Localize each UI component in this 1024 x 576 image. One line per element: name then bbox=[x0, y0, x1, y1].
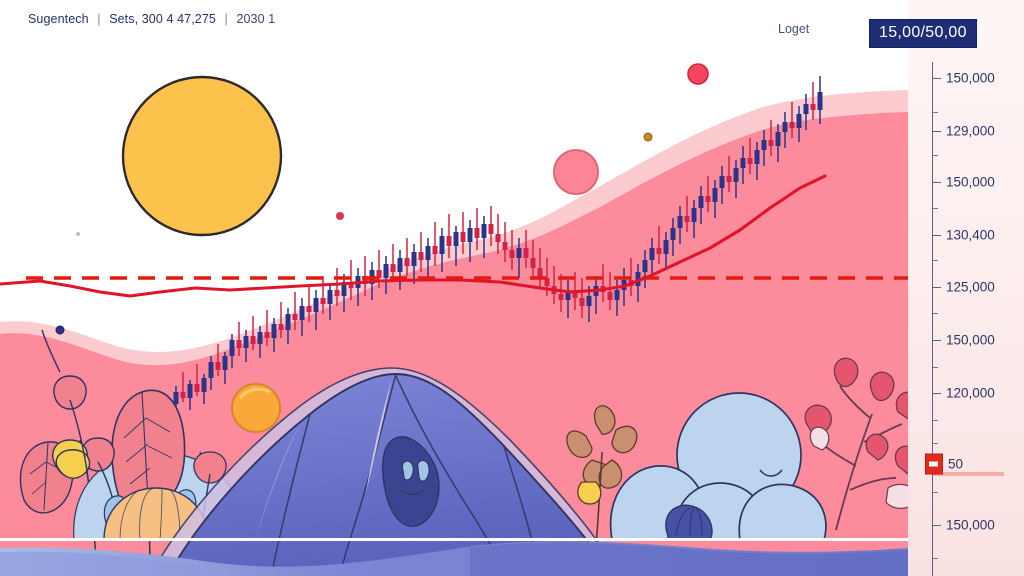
candle-body bbox=[755, 150, 760, 164]
candle-body bbox=[559, 294, 564, 300]
candle-body bbox=[440, 236, 445, 254]
candle-body bbox=[174, 392, 179, 404]
candle-body bbox=[405, 258, 410, 266]
candle-body bbox=[510, 250, 515, 258]
axis-tick bbox=[932, 340, 941, 341]
candle-body bbox=[384, 264, 389, 278]
candle-body bbox=[699, 196, 704, 208]
axis-tick bbox=[932, 155, 938, 156]
candle-body bbox=[643, 260, 648, 272]
axis-tick bbox=[932, 235, 941, 236]
axis-tick bbox=[932, 313, 938, 314]
axis-tick-label: 120,000 bbox=[946, 386, 995, 401]
candle-body bbox=[482, 224, 487, 238]
axis-tick bbox=[932, 525, 941, 526]
axis-spine bbox=[932, 62, 933, 576]
candle-body bbox=[650, 248, 655, 260]
candle-body bbox=[328, 290, 333, 304]
candle-body bbox=[251, 336, 256, 344]
candle-body bbox=[692, 208, 697, 222]
candle-body bbox=[657, 248, 662, 254]
candle-body bbox=[244, 336, 249, 348]
candle-body bbox=[300, 306, 305, 320]
candle-body bbox=[811, 104, 816, 110]
candle-body bbox=[727, 176, 732, 182]
candle-body bbox=[216, 362, 221, 370]
candle-body bbox=[741, 158, 746, 168]
axis-tick bbox=[932, 112, 938, 113]
candle-body bbox=[517, 248, 522, 258]
chart-title[interactable]: Sugentech | Sets, 300 4 47,275 | 2030 1 bbox=[28, 12, 275, 26]
candle-body bbox=[587, 296, 592, 306]
axis-tick-label: 150,000 bbox=[946, 518, 995, 533]
candle-body bbox=[524, 248, 529, 258]
candle-body bbox=[783, 122, 788, 132]
axis-tick bbox=[932, 558, 938, 559]
legend-label[interactable]: Loget bbox=[772, 21, 815, 37]
candle-body bbox=[762, 140, 767, 150]
candle-body bbox=[615, 290, 620, 300]
axis-tick bbox=[932, 393, 941, 394]
candle-body bbox=[720, 176, 725, 188]
candle-body bbox=[454, 232, 459, 246]
chart-bottom-divider bbox=[0, 538, 908, 540]
candle-body bbox=[461, 232, 466, 242]
title-separator-2: | bbox=[220, 12, 233, 26]
candle-body bbox=[286, 314, 291, 330]
axis-tick bbox=[932, 131, 941, 132]
pink-circle-small bbox=[688, 64, 708, 84]
ratio-badge[interactable]: 15,00/50,00 bbox=[869, 19, 977, 48]
candle-body bbox=[321, 298, 326, 304]
candle-body bbox=[223, 356, 228, 370]
candle-body bbox=[279, 324, 284, 330]
candle-body bbox=[671, 228, 676, 240]
price-axis[interactable]: 150,000129,000150,000130,400125,000150,0… bbox=[908, 0, 1024, 576]
axis-tick bbox=[932, 420, 938, 421]
small-sun-circle bbox=[232, 384, 280, 432]
grey-dot-marker bbox=[76, 232, 80, 236]
candle-body bbox=[230, 340, 235, 356]
chart-stage: Sugentech | Sets, 300 4 47,275 | 2030 1 … bbox=[0, 0, 1024, 576]
axis-tick bbox=[932, 182, 941, 183]
symbol-detail: Sets, 300 4 47,275 bbox=[109, 12, 216, 26]
candle-body bbox=[314, 298, 319, 312]
axis-tick-label: 150,000 bbox=[946, 71, 995, 86]
chart-canvas bbox=[0, 0, 1024, 576]
axis-tick-label: 150,000 bbox=[946, 175, 995, 190]
candle-body bbox=[391, 264, 396, 272]
axis-tick bbox=[932, 367, 938, 368]
axis-tick-label: 125,000 bbox=[946, 280, 995, 295]
current-price-label: 50 bbox=[948, 457, 963, 472]
yellow-bud bbox=[578, 482, 601, 504]
candle-body bbox=[797, 114, 802, 128]
candle-body bbox=[258, 332, 263, 344]
chart-date: 2030 1 bbox=[236, 12, 275, 26]
axis-tick bbox=[932, 287, 941, 288]
sun-circle bbox=[123, 77, 281, 235]
axis-tick-label: 129,000 bbox=[946, 124, 995, 139]
candle-body bbox=[335, 290, 340, 296]
candle-body bbox=[195, 384, 200, 392]
candle-body bbox=[734, 168, 739, 182]
candle-body bbox=[608, 292, 613, 300]
candle-body bbox=[748, 158, 753, 164]
axis-tick-label: 130,400 bbox=[946, 228, 995, 243]
candle-body bbox=[678, 216, 683, 228]
candle-body bbox=[426, 246, 431, 260]
candle-body bbox=[188, 384, 193, 398]
axis-tick bbox=[932, 260, 938, 261]
candle-body bbox=[685, 216, 690, 222]
candle-body bbox=[272, 324, 277, 338]
candle-body bbox=[181, 392, 186, 398]
candle-body bbox=[412, 252, 417, 266]
symbol-name: Sugentech bbox=[28, 12, 89, 26]
axis-tick bbox=[932, 443, 938, 444]
candle-body bbox=[706, 196, 711, 202]
candle-body bbox=[293, 314, 298, 320]
trading-chart-screenshot: Sugentech | Sets, 300 4 47,275 | 2030 1 … bbox=[0, 0, 1024, 576]
candle-body bbox=[790, 122, 795, 128]
axis-tick bbox=[932, 208, 938, 209]
title-separator-1: | bbox=[92, 12, 105, 26]
candle-body bbox=[713, 188, 718, 202]
candle-body bbox=[307, 306, 312, 312]
axis-tick bbox=[932, 492, 938, 493]
candle-body bbox=[419, 252, 424, 260]
candle-body bbox=[209, 362, 214, 378]
candle-body bbox=[776, 132, 781, 146]
axis-tick bbox=[932, 78, 941, 79]
candle-body bbox=[202, 378, 207, 392]
gold-dot-marker bbox=[644, 133, 652, 141]
candle-body bbox=[664, 240, 669, 254]
candle-body bbox=[496, 234, 501, 242]
navy-dot-marker bbox=[56, 326, 64, 334]
candle-body bbox=[398, 258, 403, 272]
candle-body bbox=[237, 340, 242, 348]
axis-tick-label: 150,000 bbox=[946, 333, 995, 348]
candle-body bbox=[804, 104, 809, 114]
candle-body bbox=[489, 224, 494, 234]
red-dot-marker bbox=[336, 212, 344, 220]
candle-body bbox=[503, 242, 508, 250]
candle-body bbox=[580, 298, 585, 306]
candle-body bbox=[769, 140, 774, 146]
pink-circle-large bbox=[554, 150, 598, 194]
candle-body bbox=[433, 246, 438, 254]
candle-body bbox=[818, 92, 823, 110]
candle-body bbox=[468, 228, 473, 242]
candle-body bbox=[447, 236, 452, 246]
current-price-marker[interactable] bbox=[925, 454, 943, 475]
candle-body bbox=[265, 332, 270, 338]
candle-body bbox=[531, 258, 536, 268]
candle-body bbox=[475, 228, 480, 238]
